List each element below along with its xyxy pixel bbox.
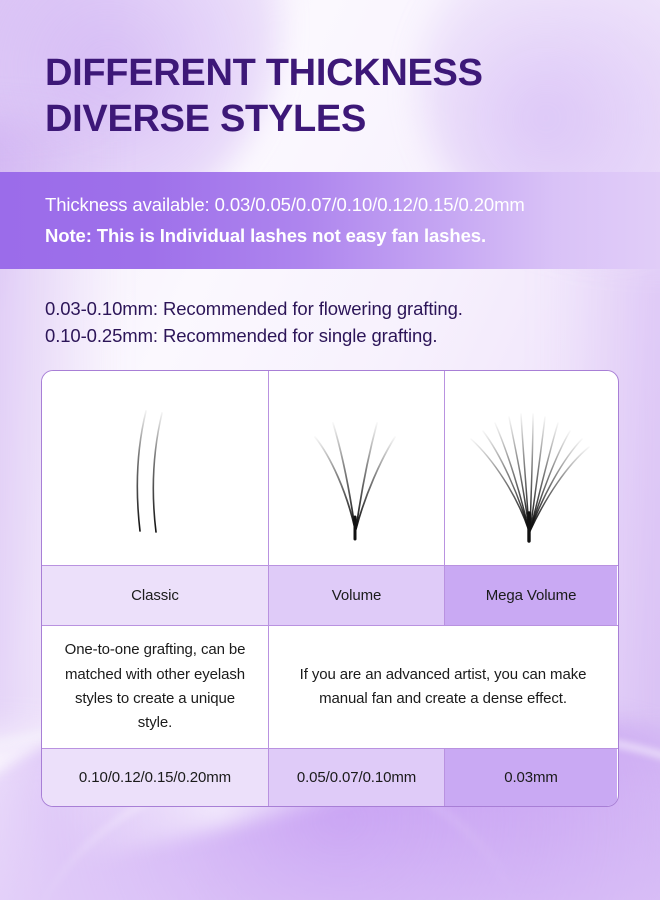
lash-style-comparison-table: Classic Volume Mega Volume One-to-one gr… (41, 370, 619, 806)
thickness-banner: Thickness available: 0.03/0.05/0.07/0.10… (0, 172, 660, 269)
label-cell-volume: Volume (269, 566, 445, 625)
description-cell-volume-mega: If you are an advanced artist, you can m… (269, 626, 617, 747)
table-row-illustrations (42, 371, 618, 566)
style-sizes-mega-volume: 0.03mm (504, 769, 558, 786)
recommendation-single-grafting: 0.10-0.25mm: Recommended for single graf… (45, 322, 660, 349)
table-row-labels: Classic Volume Mega Volume (42, 566, 618, 626)
lash-type-note: Note: This is Individual lashes not easy… (45, 222, 660, 250)
page-title-line-2: DIVERSE STYLES (45, 96, 660, 142)
mega-volume-illustration-cell (445, 371, 617, 565)
size-cell-classic: 0.10/0.12/0.15/0.20mm (42, 749, 269, 806)
style-sizes-volume: 0.05/0.07/0.10mm (297, 769, 416, 786)
style-label-mega-volume: Mega Volume (486, 587, 577, 604)
page-content: DIFFERENT THICKNESS DIVERSE STYLES Thick… (0, 0, 660, 807)
volume-illustration-cell (269, 371, 445, 565)
table-row-descriptions: One-to-one grafting, can be matched with… (42, 626, 618, 748)
recommendation-block: 0.03-0.10mm: Recommended for flowering g… (0, 269, 660, 350)
mega-volume-fan-illustration (461, 393, 601, 543)
table-row-sizes: 0.10/0.12/0.15/0.20mm 0.05/0.07/0.10mm 0… (42, 749, 618, 806)
page-title: DIFFERENT THICKNESS DIVERSE STYLES (0, 0, 660, 143)
classic-illustration-cell (42, 371, 269, 565)
page-title-line-1: DIFFERENT THICKNESS (45, 50, 660, 96)
style-label-classic: Classic (131, 587, 179, 604)
description-cell-classic: One-to-one grafting, can be matched with… (42, 626, 269, 747)
style-sizes-classic: 0.10/0.12/0.15/0.20mm (79, 769, 231, 786)
thickness-available-text: Thickness available: 0.03/0.05/0.07/0.10… (45, 191, 660, 219)
label-cell-classic: Classic (42, 566, 269, 625)
recommendation-flowering-grafting: 0.03-0.10mm: Recommended for flowering g… (45, 295, 660, 322)
classic-lashes-illustration (110, 393, 200, 543)
style-label-volume: Volume (332, 587, 381, 604)
volume-fan-illustration (297, 393, 417, 543)
style-description-volume-mega: If you are an advanced artist, you can m… (283, 663, 603, 712)
size-cell-mega-volume: 0.03mm (445, 749, 617, 806)
style-description-classic: One-to-one grafting, can be matched with… (56, 638, 254, 735)
size-cell-volume: 0.05/0.07/0.10mm (269, 749, 445, 806)
label-cell-mega-volume: Mega Volume (445, 566, 617, 625)
